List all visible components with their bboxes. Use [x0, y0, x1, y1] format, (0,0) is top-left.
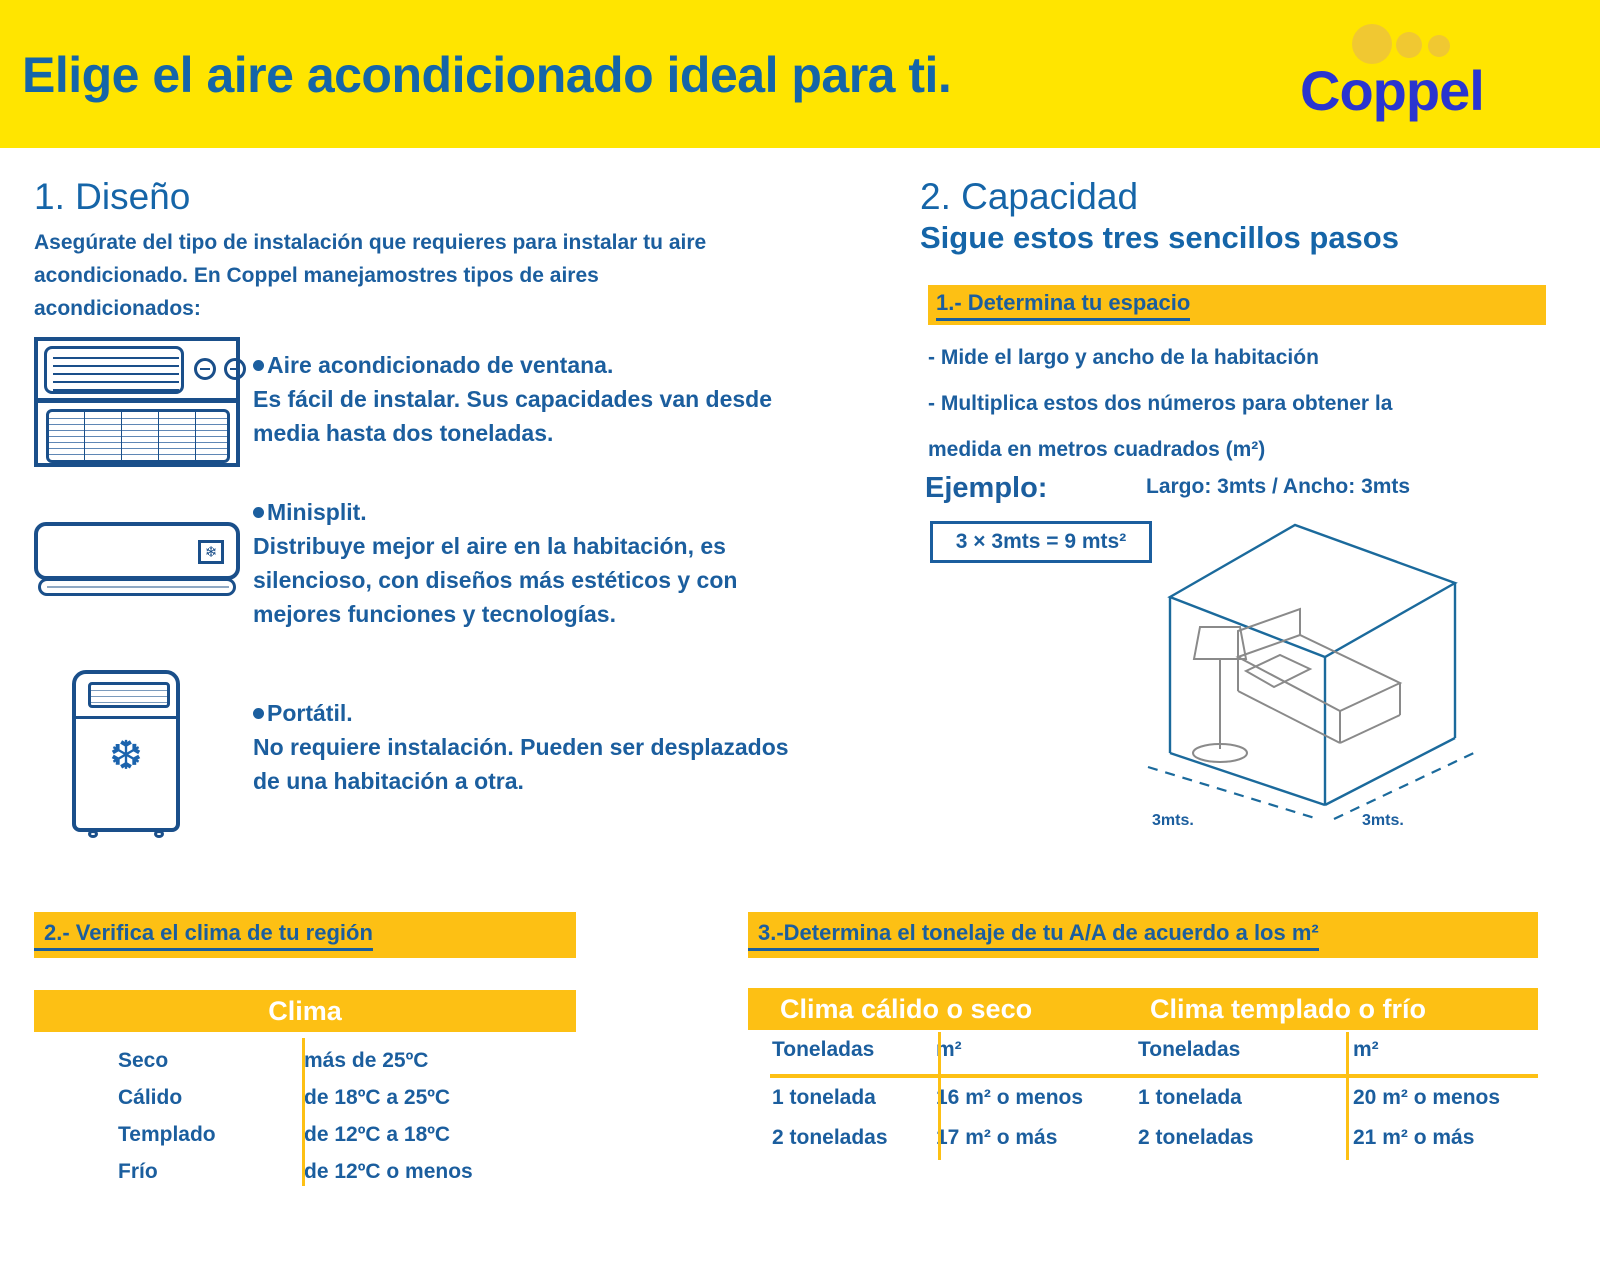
- tonelaje-grid: Toneladas m² Toneladas m² 1 tonelada 16 …: [748, 1030, 1538, 1158]
- tonelaje-group-header-cold: Clima templado o frío: [1128, 988, 1426, 1030]
- window-ac-text: Aire acondicionado de ventana. Es fácil …: [253, 348, 793, 450]
- clima-temp: de 18ºC a 25ºC: [234, 1079, 450, 1116]
- window-ac-knob-right-icon: [224, 358, 246, 380]
- portable-ac-vent: [88, 682, 170, 708]
- tonelaje-group-headers: Clima cálido o seco Clima templado o frí…: [748, 988, 1538, 1030]
- col-header-m2-warm: m²: [926, 1030, 1138, 1070]
- clima-name: Seco: [34, 1042, 234, 1079]
- bullet-dot-icon: [253, 360, 264, 371]
- page-header: Elige el aire acondicionado ideal para t…: [0, 0, 1600, 148]
- col-header-toneladas-warm: Toneladas: [748, 1030, 926, 1070]
- portable-ac-seam: [76, 716, 176, 719]
- capacity-section: 2. Capacidad Sigue estos tres sencillos …: [920, 176, 1540, 256]
- tonelaje-divider-1: [938, 1032, 941, 1160]
- window-ac-louvers: [44, 346, 184, 394]
- cell-toneladas-warm: 1 tonelada: [748, 1078, 926, 1118]
- window-ac-detail: Es fácil de instalar. Sus capacidades va…: [253, 386, 772, 446]
- capacity-section-title: 2. Capacidad: [920, 176, 1540, 218]
- step1-bullets: - Mide el largo y ancho de la habitación…: [928, 335, 1528, 473]
- clima-name: Templado: [34, 1116, 234, 1153]
- design-section-title: 1. Diseño: [34, 176, 824, 218]
- tonelaje-group-header-warm: Clima cálido o seco: [748, 988, 1128, 1030]
- room-label-left: 3mts.: [1152, 812, 1194, 830]
- step2-band: 2.- Verifica el clima de tu región: [34, 912, 576, 958]
- tonelaje-header-rule: [770, 1074, 1538, 1078]
- design-section: 1. Diseño Asegúrate del tipo de instalac…: [34, 176, 824, 325]
- table-row: 1 tonelada 16 m² o menos 1 tonelada 20 m…: [748, 1078, 1538, 1118]
- tonelaje-table: Clima cálido o seco Clima templado o frí…: [748, 988, 1538, 1158]
- table-row: Templado de 12ºC a 18ºC: [34, 1116, 576, 1153]
- step3-band-label: 3.-Determina el tonelaje de tu A/A de ac…: [748, 920, 1319, 951]
- clima-name: Cálido: [34, 1079, 234, 1116]
- window-ac-icon: [34, 337, 240, 467]
- table-row: Seco más de 25ºC: [34, 1042, 576, 1079]
- clima-temp: más de 25ºC: [234, 1042, 428, 1079]
- step1-band: 1.- Determina tu espacio: [928, 285, 1546, 325]
- cell-toneladas-cold: 1 tonelada: [1138, 1078, 1343, 1118]
- logo-dot-small-icon: [1428, 35, 1450, 57]
- clima-temp: de 12ºC a 18ºC: [234, 1116, 450, 1153]
- portable-ac-wheel-left-icon: [88, 830, 98, 838]
- design-section-description: Asegúrate del tipo de instalación que re…: [34, 226, 744, 325]
- step1-band-label: 1.- Determina tu espacio: [936, 290, 1190, 321]
- window-ac-grille: [46, 409, 230, 463]
- cell-m2-warm: 17 m² o más: [926, 1118, 1138, 1158]
- window-ac-name: Aire acondicionado de ventana.: [267, 352, 613, 378]
- portable-name: Portátil.: [267, 700, 353, 726]
- minisplit-snowflake-icon: ❄: [198, 540, 224, 564]
- coppel-logo: Coppel: [1300, 18, 1530, 128]
- minisplit-vent: [38, 578, 236, 596]
- cell-toneladas-warm: 2 toneladas: [748, 1118, 926, 1158]
- bullet-dot-icon: [253, 708, 264, 719]
- room-label-right: 3mts.: [1362, 812, 1404, 830]
- cell-m2-warm: 16 m² o menos: [926, 1078, 1138, 1118]
- minisplit-detail: Distribuye mejor el aire en la habitació…: [253, 533, 737, 627]
- clima-name: Frío: [34, 1153, 234, 1190]
- step1-bullet-1: - Mide el largo y ancho de la habitación: [928, 335, 1528, 381]
- tonelaje-divider-2: [1346, 1032, 1349, 1160]
- portable-text: Portátil. No requiere instalación. Puede…: [253, 696, 793, 798]
- step3-band: 3.-Determina el tonelaje de tu A/A de ac…: [748, 912, 1538, 958]
- page-title: Elige el aire acondicionado ideal para t…: [22, 46, 951, 104]
- capacity-section-subtitle: Sigue estos tres sencillos pasos: [920, 220, 1540, 256]
- table-row: Frío de 12ºC o menos: [34, 1153, 576, 1190]
- cell-toneladas-cold: 2 toneladas: [1138, 1118, 1343, 1158]
- portable-ac-wheel-right-icon: [154, 830, 164, 838]
- clima-table-header: Clima: [34, 990, 576, 1032]
- col-header-toneladas-cold: Toneladas: [1138, 1030, 1343, 1070]
- logo-wordmark: Coppel: [1300, 58, 1484, 123]
- portable-ac-icon: ❆: [72, 670, 180, 832]
- window-ac-top-panel: [44, 346, 236, 394]
- table-row: Cálido de 18ºC a 25ºC: [34, 1079, 576, 1116]
- step1-bullet-2: - Multiplica estos dos números para obte…: [928, 381, 1528, 427]
- table-row: 2 toneladas 17 m² o más 2 toneladas 21 m…: [748, 1118, 1538, 1158]
- clima-table: Clima Seco más de 25ºC Cálido de 18ºC a …: [34, 990, 576, 1190]
- minisplit-name: Minisplit.: [267, 499, 367, 525]
- portable-detail: No requiere instalación. Pueden ser desp…: [253, 734, 789, 794]
- clima-table-divider: [302, 1038, 305, 1186]
- bullet-dot-icon: [253, 507, 264, 518]
- portable-snowflake-icon: ❆: [76, 736, 176, 776]
- cell-m2-cold: 20 m² o menos: [1343, 1078, 1500, 1118]
- ejemplo-label: Ejemplo:: [925, 472, 1047, 505]
- window-ac-separator: [38, 398, 236, 403]
- logo-dot-medium-icon: [1396, 32, 1422, 58]
- minisplit-body: ❄: [34, 522, 240, 580]
- minisplit-text: Minisplit. Distribuye mejor el aire en l…: [253, 495, 798, 631]
- clima-table-body: Seco más de 25ºC Cálido de 18ºC a 25ºC T…: [34, 1032, 576, 1190]
- minisplit-ac-icon: ❄: [34, 522, 240, 600]
- tonelaje-column-headers: Toneladas m² Toneladas m²: [748, 1030, 1538, 1070]
- cell-m2-cold: 21 m² o más: [1343, 1118, 1474, 1158]
- room-isometric-diagram: [1110, 505, 1490, 825]
- window-ac-knob-left-icon: [194, 358, 216, 380]
- step1-bullet-3: medida en metros cuadrados (m²): [928, 427, 1528, 473]
- step2-band-label: 2.- Verifica el clima de tu región: [34, 920, 373, 951]
- room-dimensions-label: Largo: 3mts / Ancho: 3mts: [1146, 475, 1410, 499]
- clima-temp: de 12ºC o menos: [234, 1153, 473, 1190]
